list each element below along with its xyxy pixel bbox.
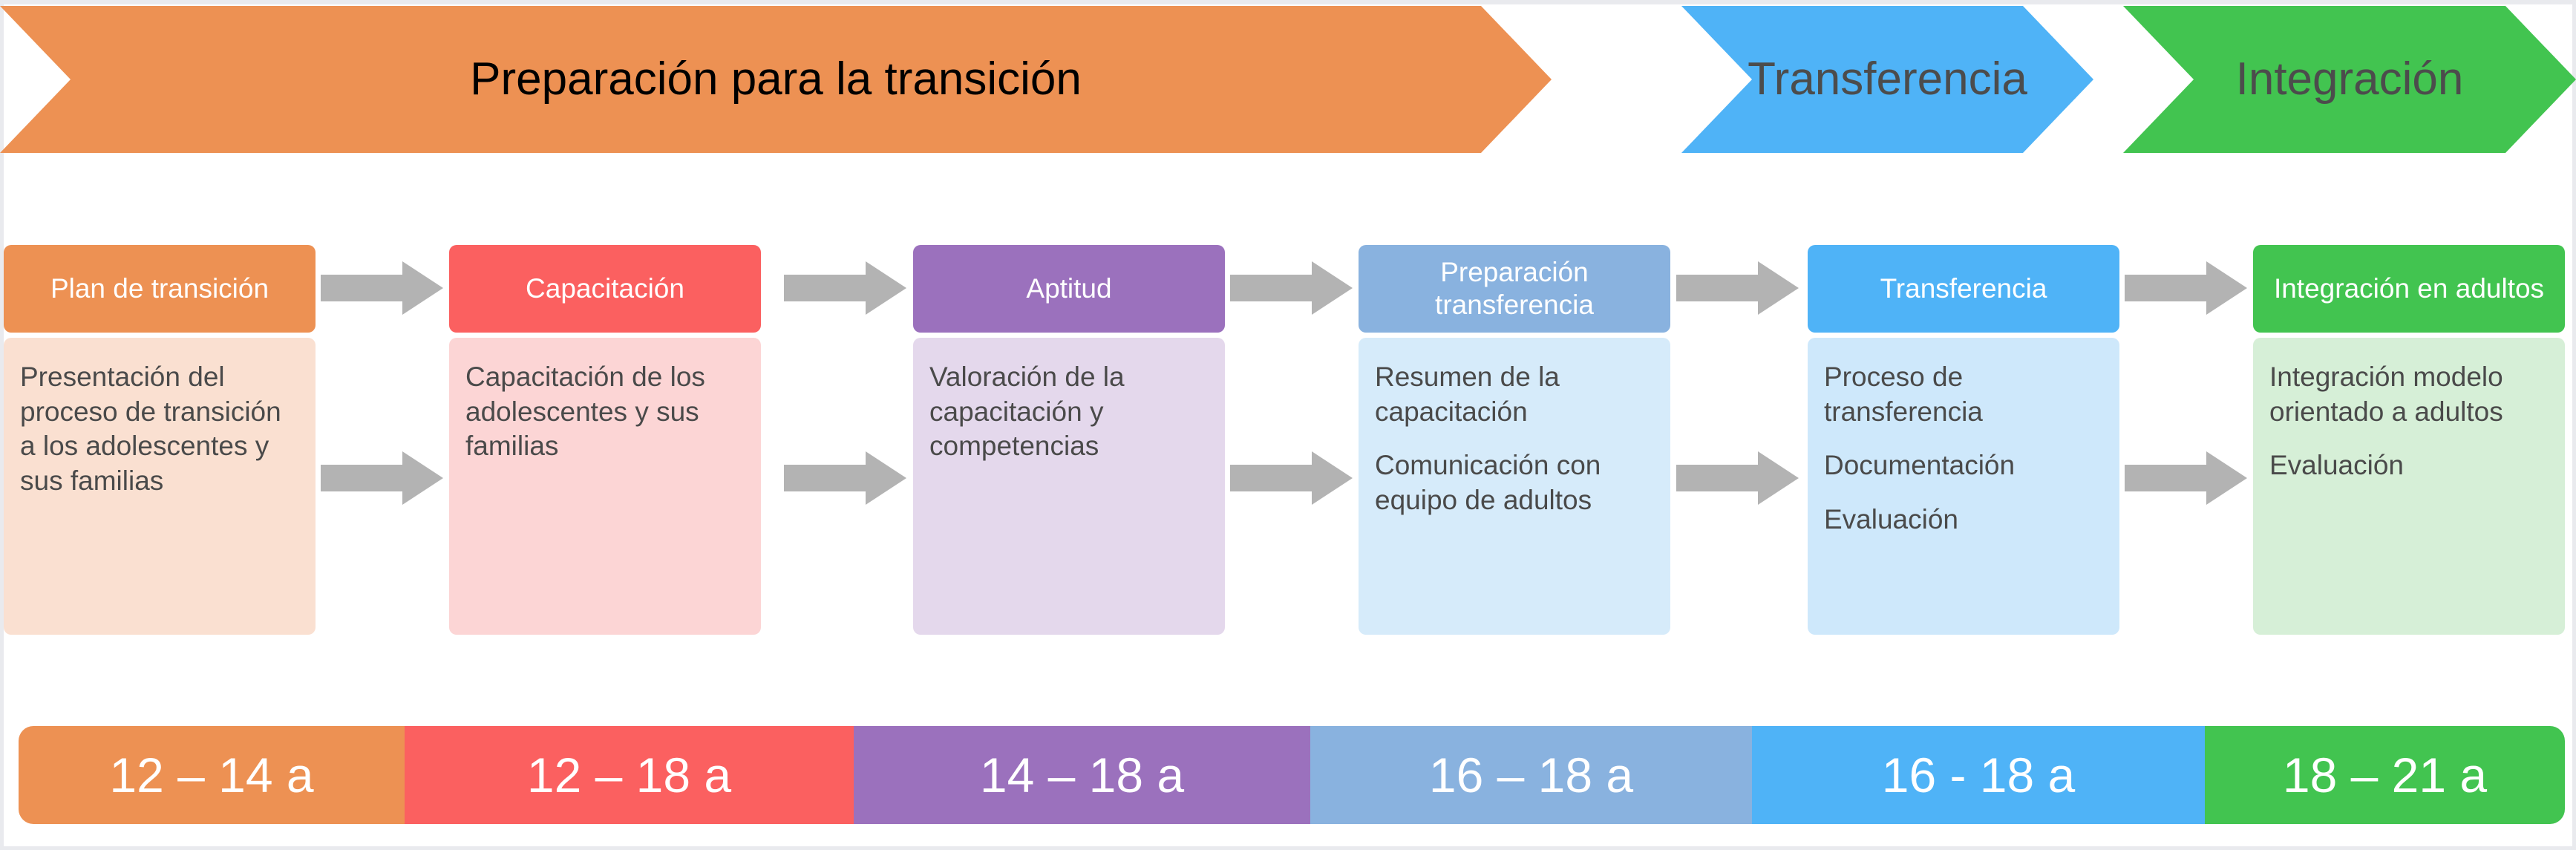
step-card-paragraph: Evaluación xyxy=(1824,503,2105,537)
age-range-label: 14 – 18 a xyxy=(980,747,1184,803)
page-border-bottom xyxy=(0,846,2576,850)
step-card-body: Valoración de la capacitación y competen… xyxy=(913,338,1225,635)
step-card-paragraph: Capacitación de los adolescentes y sus f… xyxy=(465,360,746,464)
transition-process-diagram: Preparación para la transición Transfere… xyxy=(0,0,2576,850)
step-card-title: Capacitación xyxy=(449,245,761,333)
step-card-paragraph: Evaluación xyxy=(2269,448,2550,483)
step-card-title: Preparación transferencia xyxy=(1359,245,1670,333)
phase-label: Transferencia xyxy=(1748,55,2027,103)
age-range-segment[interactable]: 16 – 18 a xyxy=(1310,726,1752,824)
step-card-paragraph: Valoración de la capacitación y competen… xyxy=(929,360,1210,464)
step-card-paragraph: Resumen de la capacitación xyxy=(1375,360,1655,429)
arrow-right-icon xyxy=(784,261,906,315)
phase-label: Preparación para la transición xyxy=(470,55,1082,103)
step-card-body: Proceso de transferencia Documentación E… xyxy=(1808,338,2119,635)
step-card-body: Integración modelo orientado a adultos E… xyxy=(2253,338,2565,635)
age-range-bar: 12 – 14 a 12 – 18 a 14 – 18 a 16 – 18 a … xyxy=(0,726,2576,824)
arrow-right-icon xyxy=(1676,261,1799,315)
step-card-title: Plan de transición xyxy=(4,245,316,333)
arrow-right-icon xyxy=(2125,261,2247,315)
age-range-label: 12 – 14 a xyxy=(109,747,313,803)
step-card-preparacion-transferencia[interactable]: Preparación transferencia Resumen de la … xyxy=(1359,245,1670,635)
step-card-paragraph: Comunicación con equipo de adultos xyxy=(1375,448,1655,517)
step-card-aptitud[interactable]: Aptitud Valoración de la capacitación y … xyxy=(913,245,1225,635)
step-card-title: Integración en adultos xyxy=(2253,245,2565,333)
step-card-paragraph: Presentación del proceso de transición a… xyxy=(20,360,301,498)
arrow-right-icon xyxy=(2125,451,2247,505)
step-card-paragraph: Proceso de transferencia xyxy=(1824,360,2105,429)
age-range-segment[interactable]: 14 – 18 a xyxy=(854,726,1310,824)
age-range-segment[interactable]: 12 – 18 a xyxy=(405,726,854,824)
process-step-row: Plan de transición Presentación del proc… xyxy=(0,245,2576,668)
phase-chevron-preparacion[interactable]: Preparación para la transición xyxy=(0,6,1552,153)
step-card-body: Capacitación de los adolescentes y sus f… xyxy=(449,338,761,635)
age-range-segment[interactable]: 18 – 21 a xyxy=(2205,726,2565,824)
arrow-right-icon xyxy=(321,261,443,315)
arrow-right-icon xyxy=(321,451,443,505)
step-card-body: Presentación del proceso de transición a… xyxy=(4,338,316,635)
arrow-right-icon xyxy=(1230,451,1353,505)
phase-chevron-transferencia[interactable]: Transferencia xyxy=(1681,6,2093,153)
phase-label: Integración xyxy=(2236,55,2464,103)
step-card-title: Aptitud xyxy=(913,245,1225,333)
step-card-plan-de-transicion[interactable]: Plan de transición Presentación del proc… xyxy=(4,245,316,635)
phase-banner: Preparación para la transición Transfere… xyxy=(0,0,2576,160)
age-range-segment[interactable]: 12 – 14 a xyxy=(19,726,405,824)
arrow-right-icon xyxy=(784,451,906,505)
age-range-segment[interactable]: 16 - 18 a xyxy=(1752,726,2205,824)
step-card-capacitacion[interactable]: Capacitación Capacitación de los adolesc… xyxy=(449,245,761,635)
step-card-body: Resumen de la capacitación Comunicación … xyxy=(1359,338,1670,635)
step-card-paragraph: Documentación xyxy=(1824,448,2105,483)
step-card-integracion-en-adultos[interactable]: Integración en adultos Integración model… xyxy=(2253,245,2565,635)
step-card-paragraph: Integración modelo orientado a adultos xyxy=(2269,360,2550,429)
age-range-label: 16 - 18 a xyxy=(1882,747,2076,803)
age-range-label: 18 – 21 a xyxy=(2283,747,2487,803)
arrow-right-icon xyxy=(1230,261,1353,315)
step-card-transferencia[interactable]: Transferencia Proceso de transferencia D… xyxy=(1808,245,2119,635)
arrow-right-icon xyxy=(1676,451,1799,505)
age-range-label: 12 – 18 a xyxy=(527,747,731,803)
step-card-title: Transferencia xyxy=(1808,245,2119,333)
phase-chevron-integracion[interactable]: Integración xyxy=(2123,6,2576,153)
age-range-label: 16 – 18 a xyxy=(1429,747,1633,803)
